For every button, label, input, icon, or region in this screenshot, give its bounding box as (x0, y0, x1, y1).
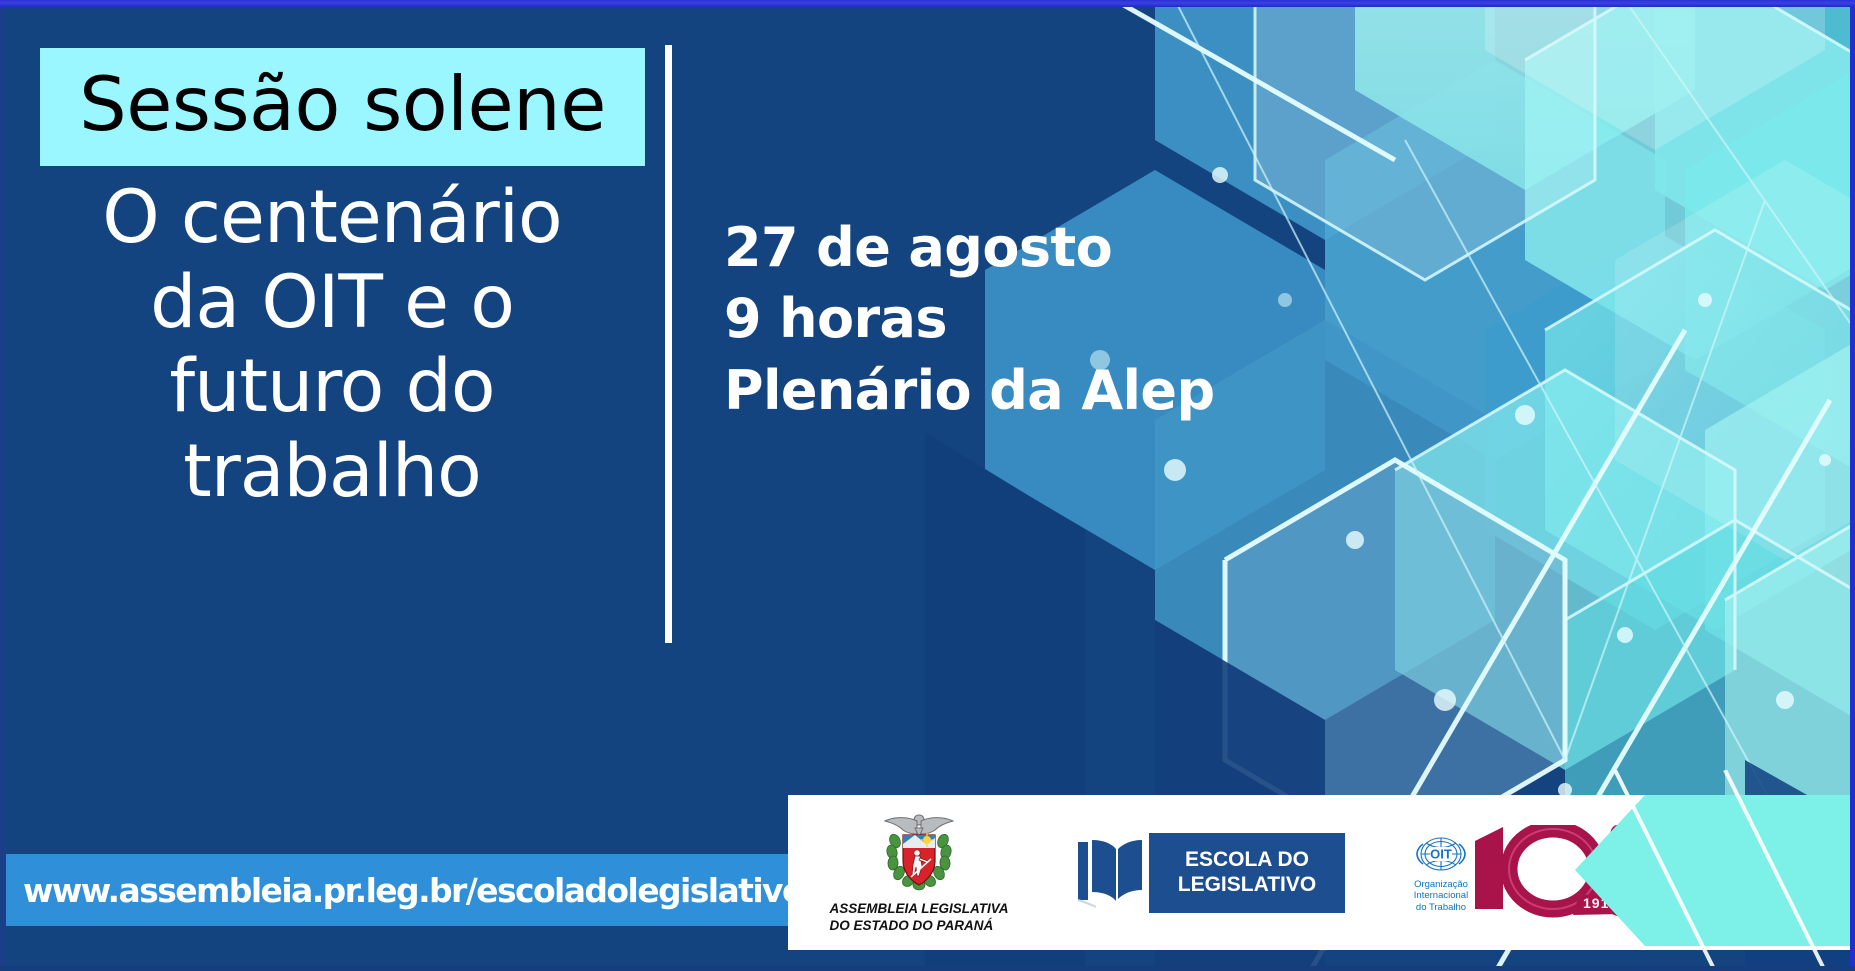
alep-wordmark: ASSEMBLEIA LEGISLATIVA DO ESTADO DO PARA… (829, 900, 1008, 935)
ilo-emblem-block: OIT Organização Internacional do Trabalh… (1409, 832, 1473, 914)
centenary-years: 1919-2019 (1583, 895, 1659, 911)
alep-wordmark-line-1: ASSEMBLEIA LEGISLATIVA (829, 900, 1008, 917)
event-venue: Plenário da Alep (724, 355, 1215, 426)
oit-caption-line-3: do Trabalho (1414, 902, 1468, 914)
event-details: 27 de agosto 9 horas Plenário da Alep (724, 212, 1215, 426)
website-url-bar[interactable]: www.assembleia.pr.leg.br/escoladolegisla… (6, 854, 796, 926)
bottom-border-rule (0, 966, 1855, 971)
escola-plate: ESCOLA DO LEGISLATIVO (1149, 833, 1345, 913)
kicker-label: Sessão solene (79, 67, 606, 148)
escola-line-2: LEGISLATIVO (1178, 873, 1316, 896)
oit-caption-line-2: Internacional (1414, 890, 1468, 902)
headline-line-4: trabalho (18, 430, 646, 515)
kicker-badge: Sessão solene (40, 48, 645, 166)
headline-line-1: O centenário (18, 176, 646, 261)
event-poster: Sessão solene O centenário da OIT e o fu… (0, 0, 1855, 971)
logo-escola-do-legislativo: ESCOLA DO LEGISLATIVO (1074, 833, 1345, 913)
escola-line-1: ESCOLA DO (1185, 848, 1309, 871)
ilo-emblem-icon: OIT (1413, 832, 1469, 876)
event-date: 27 de agosto (724, 212, 1215, 283)
website-url-text[interactable]: www.assembleia.pr.leg.br/escoladolegisla… (6, 871, 803, 910)
oit-caption: Organização Internacional do Trabalho (1414, 879, 1468, 914)
page-title: O centenário da OIT e o futuro do trabal… (18, 176, 646, 515)
right-border-rule (1850, 0, 1855, 971)
logo-assembleia-legislativa: ASSEMBLEIA LEGISLATIVA DO ESTADO DO PARA… (826, 811, 1012, 935)
logo-oit-centenary: OIT Organização Internacional do Trabalh… (1409, 825, 1675, 921)
ilo-emblem-letters: OIT (1430, 846, 1452, 861)
open-book-icon (1074, 834, 1146, 912)
footer-logo-band: ASSEMBLEIA LEGISLATIVA DO ESTADO DO PARA… (788, 795, 1855, 950)
logo-row: ASSEMBLEIA LEGISLATIVA DO ESTADO DO PARA… (788, 795, 1675, 950)
left-border-rule (0, 0, 6, 971)
event-time: 9 horas (724, 283, 1215, 354)
parana-coat-of-arms-icon (873, 811, 965, 895)
escola-plate-text: ESCOLA DO LEGISLATIVO (1178, 848, 1316, 898)
oit-caption-line-1: Organização (1414, 879, 1468, 891)
centenary-100-mark: 1919-2019 (1469, 825, 1675, 921)
headline-line-2: da OIT e o (18, 261, 646, 346)
alep-wordmark-line-2: DO ESTADO DO PARANÁ (829, 917, 1008, 934)
top-border-rule (0, 0, 1855, 7)
headline-line-3: futuro do (18, 345, 646, 430)
vertical-divider (665, 45, 672, 643)
